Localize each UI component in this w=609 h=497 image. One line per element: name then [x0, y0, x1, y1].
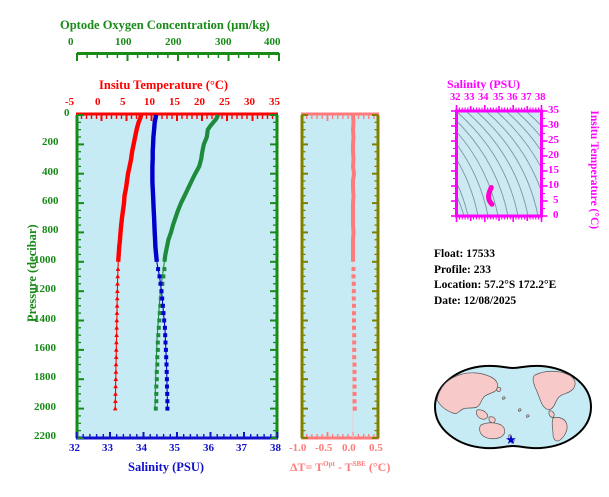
ts-diagram-chart	[456, 105, 552, 229]
ts-y-tick-30: 30	[548, 120, 559, 131]
salinity-axis-title: Salinity (PSU)	[128, 461, 204, 474]
temp-tick-3: 10	[144, 97, 155, 108]
pressure-tick-2: 400	[42, 167, 59, 178]
pressure-tick-1: 200	[42, 137, 59, 148]
temp-tick-6: 25	[219, 97, 230, 108]
sal-tick-0: 32	[69, 443, 80, 454]
float-metadata-block: Float: 17533 Profile: 233 Location: 57.2…	[434, 247, 556, 309]
main-profile-chart	[76, 108, 286, 448]
metadata-profile-value: 233	[474, 264, 491, 276]
ts-x-tick-6: 38	[535, 93, 546, 104]
delta-t-title-part3: (°C)	[366, 460, 390, 474]
temp-tick-2: 5	[120, 97, 126, 108]
metadata-location-label: Location:	[434, 279, 481, 291]
ts-y-tick-5: 5	[553, 195, 559, 206]
world-map: ★	[423, 355, 603, 460]
ts-y-tick-20: 20	[548, 150, 559, 161]
ts-y-tick-15: 15	[548, 165, 559, 176]
delta-t-axis-title: ΔT= TOpt - TSBE (°C)	[290, 461, 390, 473]
sal-tick-6: 38	[270, 443, 281, 454]
salinity-profile-curve	[152, 115, 169, 411]
metadata-date-label: Date:	[434, 295, 461, 307]
temperature-axis-title: Insitu Temperature (°C)	[99, 79, 228, 92]
ts-x-tick-5: 37	[521, 93, 532, 104]
ts-y-tick-10: 10	[548, 180, 559, 191]
metadata-date-value: 12/08/2025	[464, 295, 516, 307]
delta-t-sup-opt: Opt	[323, 460, 335, 468]
metadata-float-label: Float:	[434, 248, 463, 260]
oxygen-axis-ticklabels: 0 100 200 300 400	[76, 37, 278, 51]
metadata-float-row: Float: 17533	[434, 247, 556, 263]
sal-tick-3: 35	[169, 443, 180, 454]
metadata-profile-label: Profile:	[434, 264, 471, 276]
oxygen-tick-2: 200	[165, 37, 182, 48]
temp-tick-1: 0	[95, 97, 101, 108]
ts-x-tick-1: 33	[464, 93, 475, 104]
oxygen-tick-0: 0	[68, 37, 74, 48]
dt-tick-0: -1.0	[289, 443, 306, 454]
temp-tick-5: 20	[194, 97, 205, 108]
ts-x-tick-4: 36	[507, 93, 518, 104]
delta-t-title-part2: - T	[335, 460, 353, 474]
metadata-float-value: 17533	[466, 248, 495, 260]
oxygen-axis-line	[76, 52, 280, 62]
ts-salinity-title: Salinity (PSU)	[447, 78, 520, 90]
dt-tick-2: 0.0	[342, 443, 356, 454]
oxygen-tick-4: 400	[264, 37, 281, 48]
temp-tick-4: 15	[169, 97, 180, 108]
sal-tick-4: 36	[203, 443, 214, 454]
sal-tick-5: 37	[236, 443, 247, 454]
temp-tick-8: 35	[269, 97, 280, 108]
sal-tick-2: 34	[136, 443, 147, 454]
ts-x-tick-3: 35	[493, 93, 504, 104]
pressure-tick-0: 0	[64, 108, 70, 119]
ts-x-tick-0: 32	[450, 93, 461, 104]
ts-y-tick-25: 25	[548, 135, 559, 146]
temp-tick-7: 30	[244, 97, 255, 108]
delta-t-sup-sbe: SBE	[353, 460, 366, 468]
metadata-location-value: 57.2°S 172.2°E	[484, 279, 556, 291]
pressure-axis-title: Pressure (decibar)	[26, 213, 39, 333]
metadata-location-row: Location: 57.2°S 172.2°E	[434, 278, 556, 294]
delta-t-curve	[352, 115, 357, 411]
ts-y-tick-0: 0	[553, 210, 559, 221]
dt-tick-3: 0.5	[369, 443, 383, 454]
pressure-tick-4: 800	[42, 225, 59, 236]
pressure-tick-9: 1800	[34, 372, 56, 383]
oxygen-tick-1: 100	[115, 37, 132, 48]
ts-x-tick-2: 34	[478, 93, 489, 104]
pressure-tick-8: 1600	[34, 343, 56, 354]
delta-t-title-part1: ΔT= T	[290, 460, 323, 474]
metadata-profile-row: Profile: 233	[434, 263, 556, 279]
delta-t-chart	[301, 108, 387, 448]
sal-tick-1: 33	[102, 443, 113, 454]
pressure-tick-3: 600	[42, 196, 59, 207]
pressure-tick-10: 2000	[34, 402, 56, 413]
oxygen-profile-curve	[154, 115, 218, 411]
metadata-date-row: Date: 12/08/2025	[434, 294, 556, 310]
oxygen-axis-title: Optode Oxygen Concentration (µm/kg)	[60, 19, 270, 32]
ts-data-curve	[489, 188, 492, 205]
ts-y-tick-35: 35	[548, 105, 559, 116]
oxygen-tick-3: 300	[215, 37, 232, 48]
dt-tick-1: -0.5	[315, 443, 332, 454]
ts-temperature-title: Insitu Temperature (°C)	[587, 105, 599, 235]
temperature-profile-curve	[113, 115, 141, 410]
pressure-tick-11: 2200	[34, 431, 56, 442]
float-location-marker: ★	[505, 432, 517, 447]
